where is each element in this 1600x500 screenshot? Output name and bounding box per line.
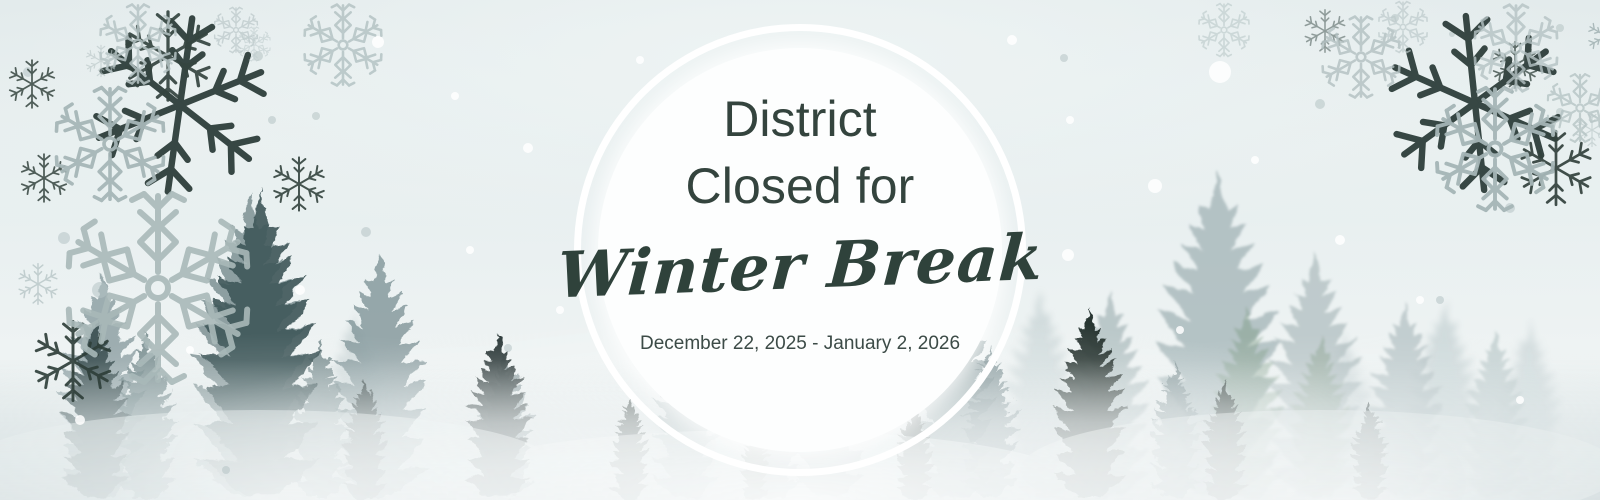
date-range: December 22, 2025 - January 2, 2026 bbox=[640, 334, 960, 353]
script-title: Winter Break bbox=[555, 226, 1046, 308]
center-badge: District Closed for Winter Break Decembe… bbox=[574, 24, 1026, 476]
headline-line-2: Closed for bbox=[686, 153, 915, 220]
winter-break-banner: District Closed for Winter Break Decembe… bbox=[0, 0, 1600, 500]
badge-content: District Closed for Winter Break Decembe… bbox=[574, 24, 1026, 476]
headline-line-1: District bbox=[723, 86, 877, 153]
